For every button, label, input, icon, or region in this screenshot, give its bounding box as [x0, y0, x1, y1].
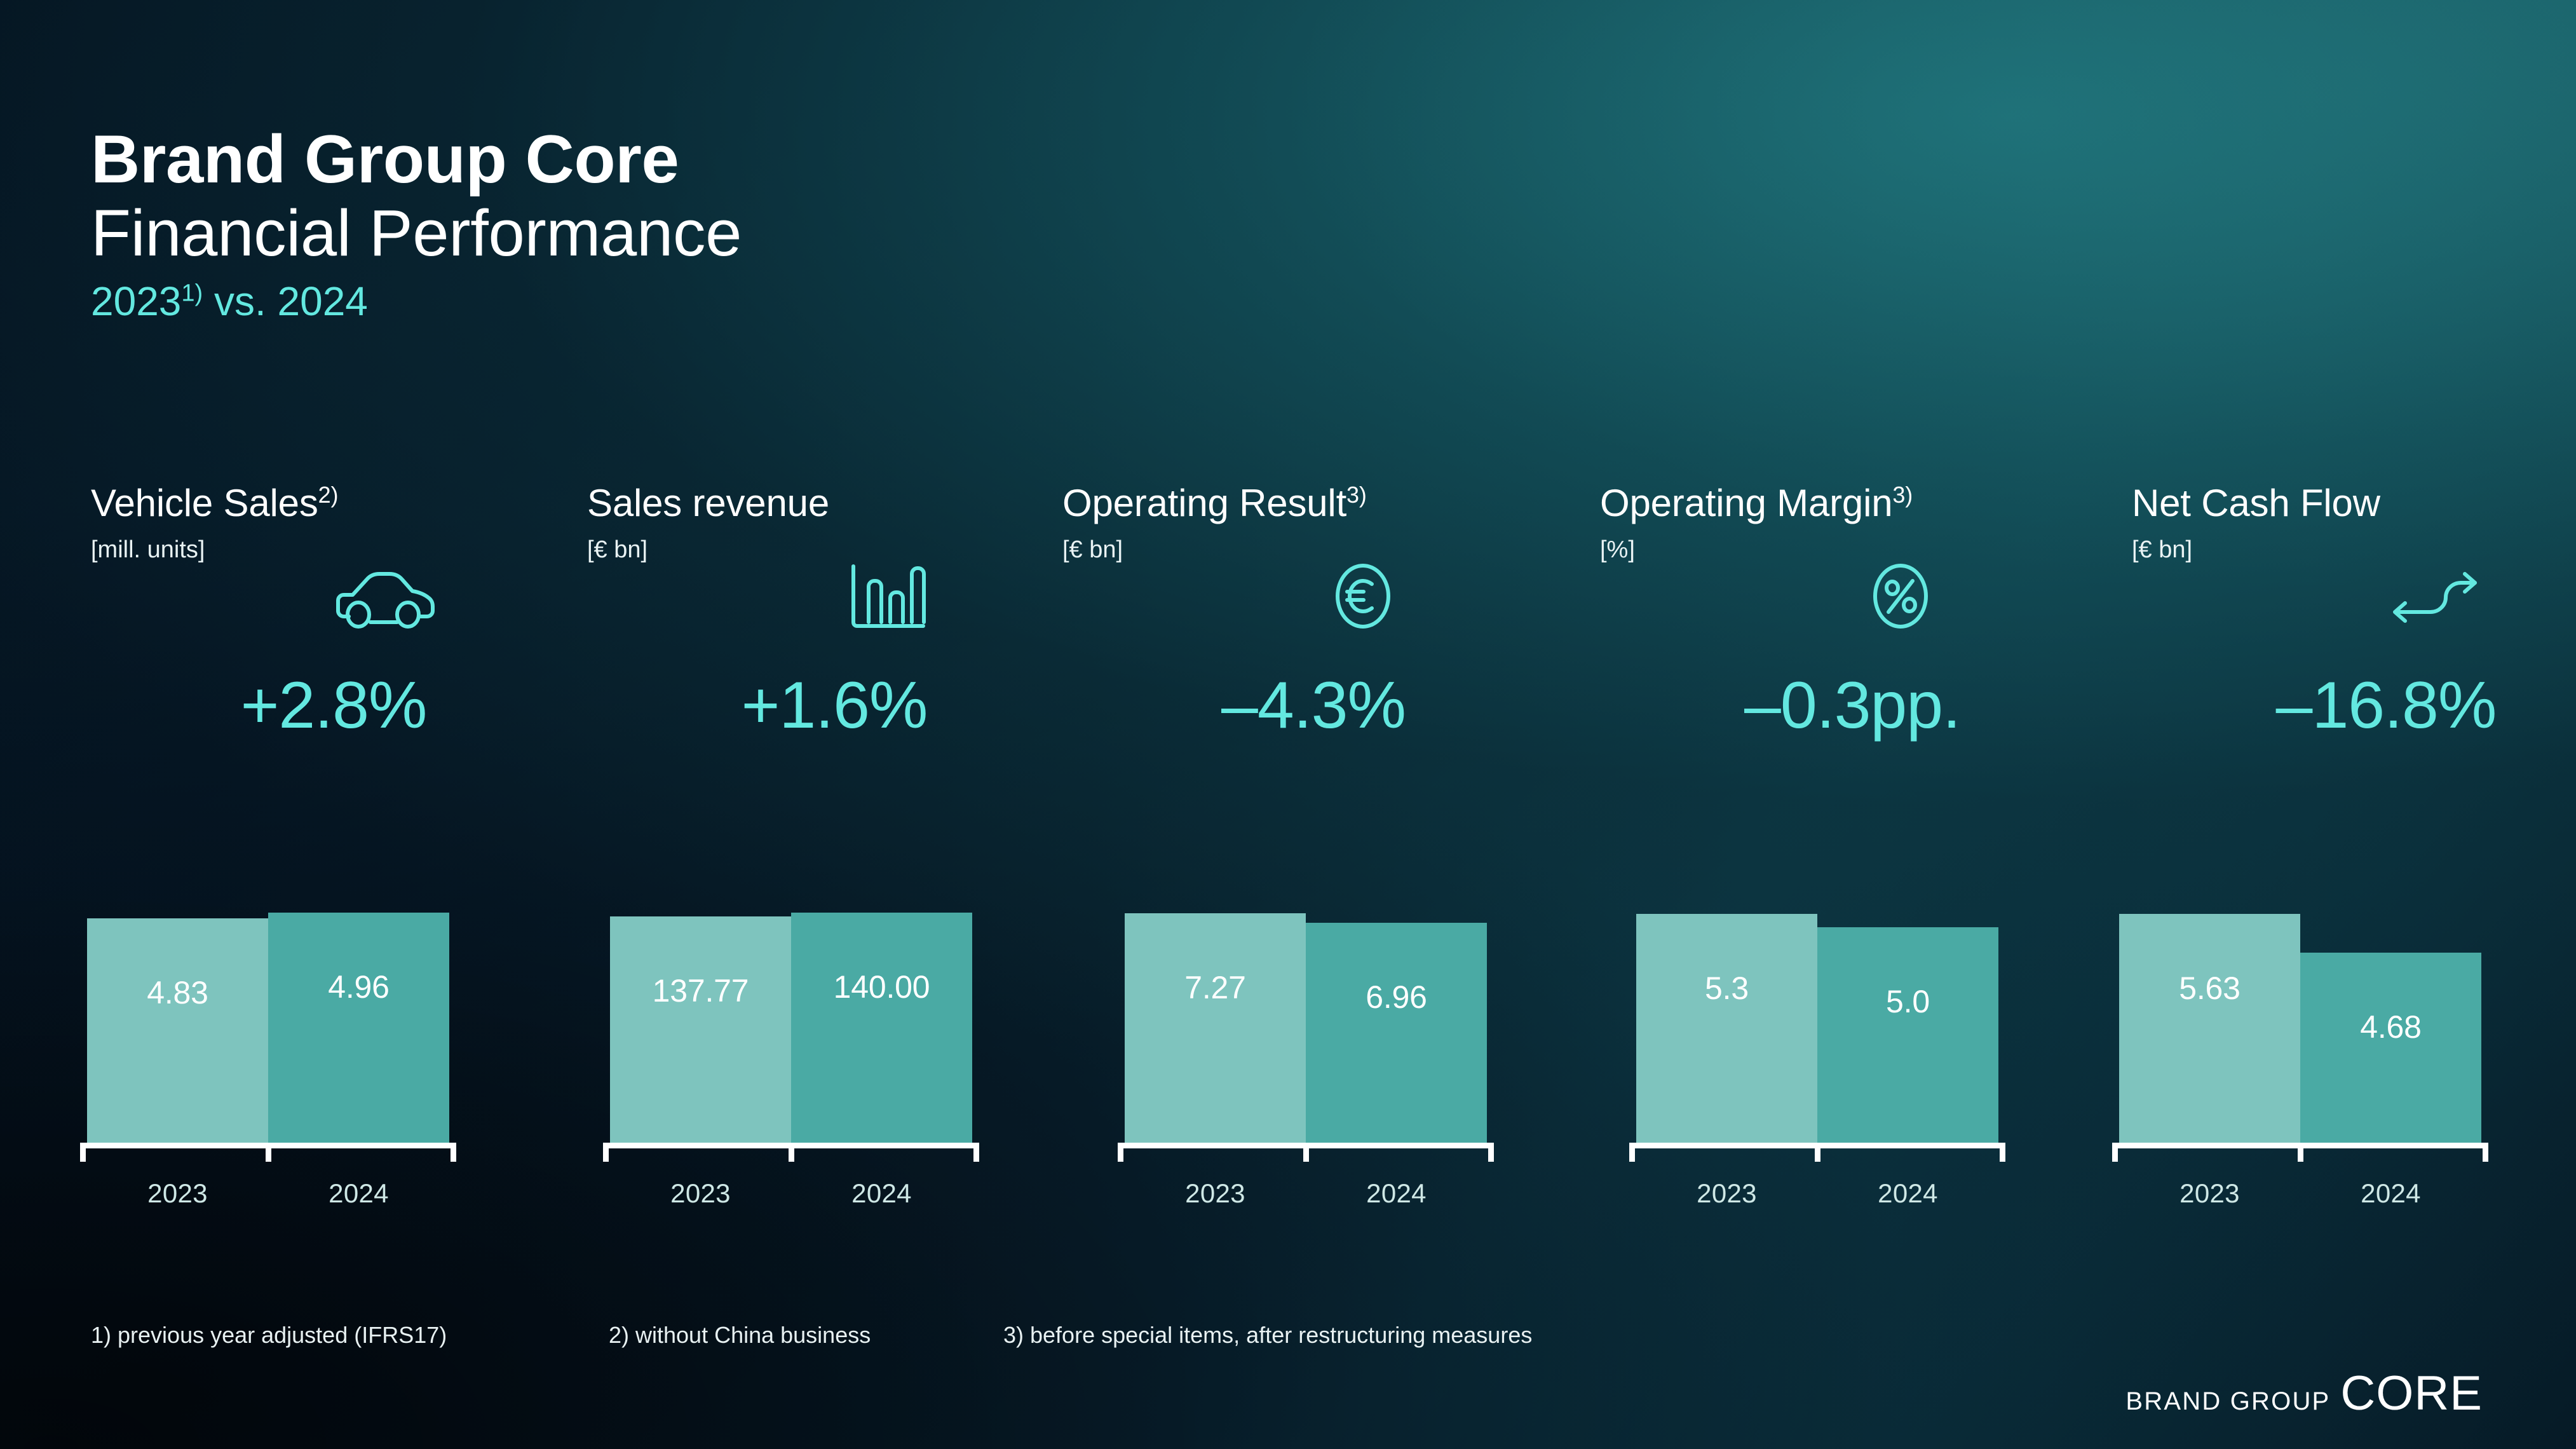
bar-value-2024: 4.68: [2360, 1009, 2422, 1045]
kpi-title-footnote-marker: 3): [1346, 482, 1367, 508]
bar-value-2024: 4.96: [328, 969, 390, 1005]
bar-2023[interactable]: 5.3: [1636, 914, 1817, 1143]
kpi-column-4: Operating Margin3)[%]–0.3pp.: [1600, 483, 2102, 738]
kpi-bar-chart: 5.35.020232024: [1636, 901, 1998, 1209]
axis-year-labels: 20232024: [1125, 1178, 1487, 1209]
page-subtitle: Financial Performance: [91, 196, 742, 269]
axis-tick-left: [1118, 1143, 1123, 1162]
axis-tick-left: [603, 1143, 609, 1162]
bar-value-2023: 7.27: [1184, 969, 1246, 1006]
axis-tick-left: [1629, 1143, 1635, 1162]
kpi-header: Operating Result3)[€ bn]: [1062, 483, 1564, 667]
bar-value-2023: 5.63: [2179, 970, 2240, 1007]
chart-axis: [80, 1143, 456, 1164]
kpi-column-2: Sales revenue[€ bn]+1.6%: [581, 483, 1083, 738]
kpi-title-footnote-marker: 2): [318, 482, 339, 508]
axis-tick-right: [2483, 1143, 2488, 1162]
chart-axis: [603, 1143, 979, 1164]
kpi-title-text: Operating Margin: [1600, 482, 1892, 524]
kpi-delta-value: +1.6%: [581, 672, 1083, 738]
chart-axis: [2112, 1143, 2488, 1164]
logo-core-text: CORE: [2340, 1372, 2483, 1415]
year-label-2023: 2023: [1125, 1178, 1306, 1209]
bar-2024[interactable]: 140.00: [791, 913, 972, 1143]
percent-circle-icon: [1847, 558, 1955, 634]
bar-2023[interactable]: 137.77: [610, 916, 791, 1143]
slide-root: Brand Group Core Financial Performance 2…: [0, 0, 2576, 1449]
kpi-bar-chart: 5.634.6820232024: [2119, 901, 2481, 1209]
bar-2024[interactable]: 6.96: [1306, 923, 1487, 1143]
kpi-title: Operating Result3): [1062, 483, 1564, 523]
axis-tick-middle: [1303, 1143, 1309, 1162]
kpi-header: Vehicle Sales2)[mill. units]: [80, 483, 582, 667]
axis-tick-middle: [266, 1143, 271, 1162]
logo-brand-text: BRAND GROUP: [2125, 1387, 2330, 1416]
kpi-title-text: Operating Result: [1062, 482, 1346, 524]
kpi-title-footnote-marker: 3): [1892, 482, 1913, 508]
kpi-delta-value: +2.8%: [80, 672, 582, 738]
bar-chart-icon: [828, 558, 936, 634]
bar-value-2023: 5.3: [1705, 970, 1749, 1007]
axis-tick-left: [80, 1143, 86, 1162]
bar-2024[interactable]: 4.68: [2300, 953, 2481, 1143]
euro-circle-icon: [1309, 558, 1417, 634]
kpi-title: Vehicle Sales2): [91, 483, 582, 523]
kpi-title: Net Cash Flow: [2132, 483, 2576, 523]
axis-year-labels: 20232024: [610, 1178, 972, 1209]
page-period: 20231) vs. 2024: [91, 277, 742, 326]
year-label-2024: 2024: [268, 1178, 449, 1209]
year-label-2024: 2024: [2300, 1178, 2481, 1209]
kpi-title-text: Net Cash Flow: [2132, 482, 2380, 524]
bar-group: 5.634.68: [2119, 901, 2481, 1143]
bar-2023[interactable]: 5.63: [2119, 914, 2300, 1143]
period-start: 2023: [91, 278, 181, 324]
kpi-unit: [€ bn]: [2132, 537, 2576, 564]
kpi-header: Sales revenue[€ bn]: [581, 483, 1083, 667]
kpi-title: Operating Margin3): [1600, 483, 2102, 523]
axis-tick-left: [2112, 1143, 2118, 1162]
car-icon: [327, 558, 435, 634]
axis-year-labels: 20232024: [1636, 1178, 1998, 1209]
kpi-column-5: Net Cash Flow[€ bn]–16.8%: [2132, 483, 2576, 738]
bar-2024[interactable]: 5.0: [1817, 927, 1998, 1143]
axis-year-labels: 20232024: [87, 1178, 449, 1209]
kpi-bar-chart: 137.77140.0020232024: [610, 901, 972, 1209]
chart-axis: [1629, 1143, 2005, 1164]
bar-group: 7.276.96: [1125, 901, 1487, 1143]
axis-tick-middle: [2298, 1143, 2303, 1162]
bar-group: 137.77140.00: [610, 901, 972, 1143]
bar-group: 4.834.96: [87, 901, 449, 1143]
year-label-2023: 2023: [610, 1178, 791, 1209]
axis-tick-right: [973, 1143, 979, 1162]
cash-flow-arrows-icon: [2378, 558, 2486, 634]
kpi-title-text: Sales revenue: [587, 482, 829, 524]
year-label-2024: 2024: [1817, 1178, 1998, 1209]
footnote-2: 2) without China business: [609, 1322, 871, 1349]
axis-tick-middle: [1815, 1143, 1820, 1162]
bar-value-2023: 4.83: [147, 974, 208, 1011]
bar-2024[interactable]: 4.96: [268, 913, 449, 1143]
axis-tick-middle: [789, 1143, 794, 1162]
kpi-header: Net Cash Flow[€ bn]: [2132, 483, 2576, 667]
period-footnote-marker: 1): [181, 280, 203, 307]
year-label-2024: 2024: [791, 1178, 972, 1209]
kpi-column-3: Operating Result3)[€ bn]–4.3%: [1062, 483, 1564, 738]
period-end: vs. 2024: [203, 278, 368, 324]
kpi-title-text: Vehicle Sales: [91, 482, 318, 524]
year-label-2023: 2023: [2119, 1178, 2300, 1209]
bar-value-2024: 140.00: [834, 969, 930, 1005]
page-title: Brand Group Core: [91, 125, 742, 194]
year-label-2023: 2023: [87, 1178, 268, 1209]
bar-value-2024: 5.0: [1886, 983, 1930, 1020]
logo: BRAND GROUP CORE: [2125, 1372, 2483, 1416]
kpi-bar-chart: 7.276.9620232024: [1125, 901, 1487, 1209]
footnote-1: 1) previous year adjusted (IFRS17): [91, 1322, 447, 1349]
bar-2023[interactable]: 7.27: [1125, 913, 1306, 1143]
kpi-header: Operating Margin3)[%]: [1600, 483, 2102, 667]
kpi-delta-value: –16.8%: [2132, 672, 2576, 738]
footnote-3: 3) before special items, after restructu…: [1003, 1322, 1532, 1349]
bar-value-2024: 6.96: [1366, 979, 1427, 1016]
bar-group: 5.35.0: [1636, 901, 1998, 1143]
axis-year-labels: 20232024: [2119, 1178, 2481, 1209]
title-block: Brand Group Core Financial Performance 2…: [91, 125, 742, 326]
kpi-bar-chart: 4.834.9620232024: [87, 901, 449, 1209]
axis-tick-right: [1488, 1143, 1494, 1162]
kpi-delta-value: –4.3%: [1062, 672, 1564, 738]
kpi-column-1: Vehicle Sales2)[mill. units]+2.8%: [80, 483, 582, 738]
year-label-2024: 2024: [1306, 1178, 1487, 1209]
chart-axis: [1118, 1143, 1494, 1164]
kpi-title: Sales revenue: [587, 483, 1083, 523]
axis-tick-right: [2000, 1143, 2005, 1162]
year-label-2023: 2023: [1636, 1178, 1817, 1209]
bar-2023[interactable]: 4.83: [87, 918, 268, 1143]
bar-value-2023: 137.77: [653, 972, 749, 1009]
kpi-delta-value: –0.3pp.: [1600, 672, 2102, 738]
axis-tick-right: [451, 1143, 456, 1162]
